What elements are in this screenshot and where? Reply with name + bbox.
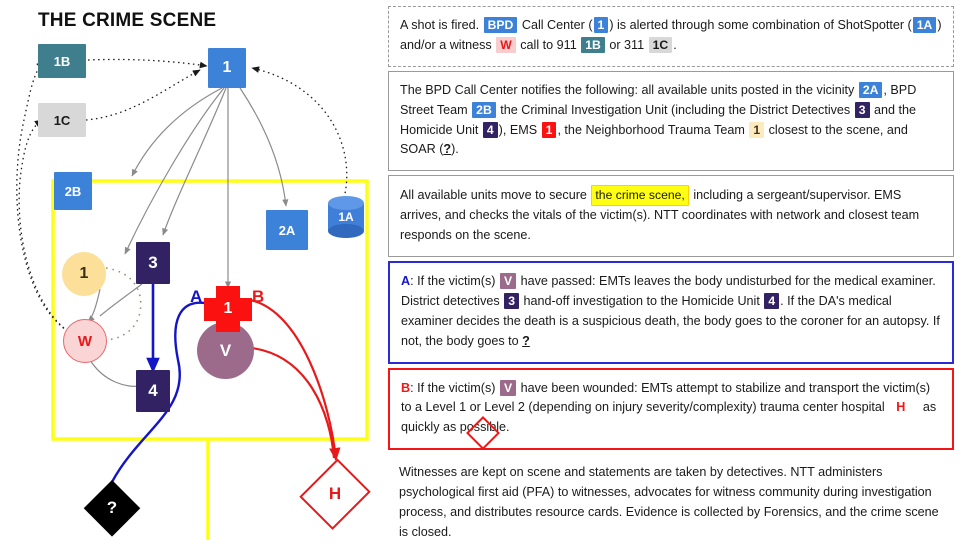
tag-1: 1: [594, 17, 609, 33]
narrative-panels: A shot is fired. BPD Call Center (1) is …: [388, 6, 954, 557]
panel-4-branch-a: A: If the victim(s) V have passed: EMTs …: [388, 261, 954, 364]
node-1a-label: 1A: [328, 196, 364, 238]
crime-scene-infographic: THE CRIME SCENE: [0, 0, 960, 540]
node-ems-1-label: 1: [204, 286, 252, 332]
tag-w: W: [496, 37, 516, 53]
branch-b-marker: B: [401, 381, 410, 395]
tag-4: 4: [764, 293, 779, 309]
node-1-label: 1: [223, 59, 232, 77]
panel-1: A shot is fired. BPD Call Center (1) is …: [388, 6, 954, 67]
tag-h: H: [896, 400, 905, 414]
node-4[interactable]: 4: [136, 370, 170, 412]
p2-text-a: The BPD Call Center notifies the followi…: [400, 83, 854, 97]
tag-v: V: [500, 273, 516, 289]
node-w-label: W: [78, 333, 92, 350]
tag-ntt-1: 1: [749, 122, 764, 138]
node-1b-label: 1B: [54, 54, 71, 69]
tag-bpd: BPD: [484, 17, 518, 33]
tag-1a: 1A: [913, 17, 937, 33]
highlight-crime-scene: the crime scene,: [591, 185, 688, 205]
p1-text-a: A shot is fired.: [400, 18, 479, 32]
node-2a[interactable]: 2A: [266, 210, 308, 250]
p2-text-f: , the Neighborhood Trauma Team: [557, 123, 744, 137]
p4-text-a: : If the victim(s): [410, 274, 495, 288]
node-ntt-1-label: 1: [80, 265, 89, 283]
node-question-diamond[interactable]: ?: [84, 480, 140, 536]
tag-4: 4: [483, 122, 498, 138]
tag-3: 3: [855, 102, 870, 118]
node-4-label: 4: [148, 381, 157, 401]
node-2b[interactable]: 2B: [54, 172, 92, 210]
p1-text-e: call to 911: [520, 38, 576, 52]
tag-1c: 1C: [649, 37, 673, 53]
node-2b-label: 2B: [65, 184, 82, 199]
p4-text-c: hand-off investigation to the Homicide U…: [523, 294, 759, 308]
tag-2a: 2A: [859, 82, 883, 98]
p2-text-c: the Criminal Investigation Unit (includi…: [500, 103, 850, 117]
node-2a-label: 2A: [279, 223, 296, 238]
p1-text-c: ) is alerted through some combination of…: [609, 18, 911, 32]
node-1[interactable]: 1: [208, 48, 246, 88]
p6-text: Witnesses are kept on scene and statemen…: [399, 465, 939, 539]
node-ntt-1[interactable]: 1: [62, 252, 106, 296]
branch-a-label: A: [190, 287, 202, 307]
p1-text-f: or 311: [609, 38, 644, 52]
tag-question: ?: [522, 334, 530, 348]
node-1a-database[interactable]: 1A: [328, 196, 364, 238]
tag-ems-1: 1: [542, 122, 557, 138]
panel-5-branch-b: B: If the victim(s) V have been wounded:…: [388, 368, 954, 451]
node-ems-1-cross[interactable]: 1: [204, 286, 252, 332]
p1-text-g: .: [673, 38, 677, 52]
p3-text-a: All available units move to secure: [400, 188, 587, 202]
p1-text-b: Call Center (: [522, 18, 593, 32]
diamond-shape: [466, 416, 500, 450]
tag-v: V: [500, 380, 516, 396]
node-3-label: 3: [148, 253, 157, 273]
panel-3: All available units move to secure the c…: [388, 175, 954, 257]
tag-soar-question: ?: [443, 142, 451, 156]
tag-2b: 2B: [472, 102, 496, 118]
panel-2: The BPD Call Center notifies the followi…: [388, 71, 954, 172]
panel-6: Witnesses are kept on scene and statemen…: [388, 454, 954, 553]
node-1b[interactable]: 1B: [38, 44, 86, 78]
p5-text-a: : If the victim(s): [410, 381, 495, 395]
tag-3: 3: [504, 293, 519, 309]
crime-scene-diagram: THE CRIME SCENE: [0, 0, 382, 540]
hospital-diamond-icon: [466, 416, 500, 450]
node-v-label: V: [220, 341, 231, 361]
p2-text-h: ).: [451, 142, 459, 156]
node-3[interactable]: 3: [136, 242, 170, 284]
tag-1b: 1B: [581, 37, 605, 53]
branch-b-label: B: [252, 287, 264, 307]
node-1c[interactable]: 1C: [38, 103, 86, 137]
node-h-hospital-diamond[interactable]: H: [302, 456, 368, 532]
node-w-witness[interactable]: W: [63, 319, 107, 363]
node-1c-label: 1C: [54, 113, 71, 128]
node-question-label: ?: [84, 480, 140, 536]
node-h-label: H: [302, 456, 368, 532]
p2-text-e: ), EMS: [499, 123, 537, 137]
branch-a-marker: A: [401, 274, 410, 288]
